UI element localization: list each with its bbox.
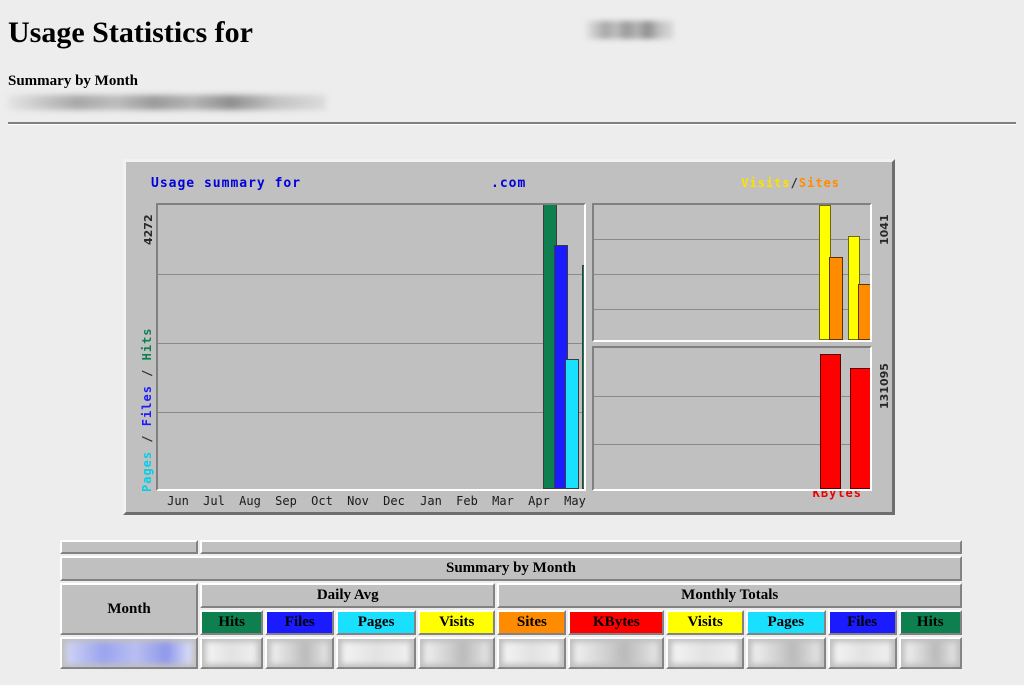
left-axis-max-value: 4272 [142, 214, 155, 245]
table-row[interactable] [60, 637, 962, 669]
table-spacer-row [60, 540, 962, 554]
plot-pages-files-hits [156, 203, 586, 491]
redacted-value [905, 642, 956, 664]
page-title: Usage Statistics for [8, 14, 253, 52]
column-header-total-kbytes[interactable]: KBytes [568, 610, 664, 635]
axis-label-sep-2: / [140, 360, 154, 385]
bar-sites-may [858, 284, 872, 340]
summary-by-month-table: Summary by Month Month Daily Avg Monthly… [58, 538, 964, 671]
chart-legend-visits-sites: Visits/Sites [741, 176, 840, 190]
column-header-total-visits[interactable]: Visits [666, 610, 743, 635]
column-header-total-pages[interactable]: Pages [746, 610, 826, 635]
gridline [158, 412, 584, 413]
cell-daily-hits-redacted [200, 637, 263, 669]
column-header-month: Month [60, 583, 198, 635]
month-tick-jan: Jan [420, 494, 442, 508]
summary-by-month-table-container: Summary by Month Month Daily Avg Monthly… [58, 538, 964, 671]
column-header-total-hits[interactable]: Hits [899, 610, 962, 635]
legend-separator: / [791, 176, 799, 190]
cell-daily-files-redacted [265, 637, 334, 669]
cell-daily-visits-redacted [418, 637, 495, 669]
cell-total-pages-redacted [746, 637, 826, 669]
redacted-value [342, 642, 410, 664]
group-header-monthly-totals: Monthly Totals [497, 583, 962, 608]
bar-kbytes-may [850, 368, 871, 489]
month-tick-jun: Jun [167, 494, 189, 508]
group-header-daily-avg: Daily Avg [200, 583, 495, 608]
left-axis-title: Pages / Files / Hits [140, 327, 154, 492]
redacted-value [66, 642, 192, 664]
header-divider [8, 122, 1016, 125]
column-header-daily-visits[interactable]: Visits [418, 610, 495, 635]
month-tick-apr: Apr [528, 494, 550, 508]
legend-visits-label: Visits [741, 176, 790, 190]
month-tick-aug: Aug [239, 494, 261, 508]
table-title: Summary by Month [60, 556, 962, 581]
spacer-cell-left [60, 540, 198, 554]
cell-total-sites-redacted [497, 637, 566, 669]
bar-pages-apr [565, 359, 579, 489]
redacted-domain-name [586, 21, 674, 39]
usage-summary-chart: Usage summary for .com Visits/Sites 4272… [123, 159, 895, 515]
table-title-row: Summary by Month [60, 556, 962, 581]
bar-kbytes-apr [820, 354, 841, 489]
redacted-value [206, 642, 257, 664]
column-header-daily-files[interactable]: Files [265, 610, 334, 635]
spacer-cell-right [200, 540, 962, 554]
redacted-value [672, 642, 737, 664]
page-subtitle: Summary by Month [8, 52, 1024, 90]
column-header-daily-pages[interactable]: Pages [336, 610, 416, 635]
redacted-value [574, 642, 658, 664]
axis-label-pages: Pages [140, 451, 154, 492]
cell-total-files-redacted [828, 637, 897, 669]
right-bottom-axis-max-value: 131095 [878, 363, 891, 409]
cell-daily-pages-redacted [336, 637, 416, 669]
table-group-header-row: Month Daily Avg Monthly Totals [60, 583, 962, 608]
cell-total-hits-redacted [899, 637, 962, 669]
gridline [158, 343, 584, 344]
chart-domain-suffix: .com [491, 176, 526, 191]
redacted-value [271, 642, 328, 664]
redacted-value [752, 642, 820, 664]
axis-label-sep-1: / [140, 426, 154, 451]
month-tick-dec: Dec [383, 494, 405, 508]
month-tick-nov: Nov [347, 494, 369, 508]
gridline [158, 274, 584, 275]
redacted-subtitle-detail [8, 95, 326, 110]
cell-month-redacted [60, 637, 198, 669]
plot-kbytes [592, 346, 872, 491]
bar-sites-apr [829, 257, 843, 340]
month-tick-mar: Mar [492, 494, 514, 508]
column-header-total-sites[interactable]: Sites [497, 610, 566, 635]
month-tick-feb: Feb [456, 494, 478, 508]
column-header-total-files[interactable]: Files [828, 610, 897, 635]
page-header: Usage Statistics for Summary by Month [0, 0, 1024, 110]
month-tick-oct: Oct [311, 494, 333, 508]
right-top-axis-max-value: 1041 [878, 214, 891, 245]
redacted-value [834, 642, 891, 664]
cell-total-visits-redacted [666, 637, 743, 669]
redacted-value [503, 642, 560, 664]
chart-canvas: Usage summary for .com Visits/Sites 4272… [126, 162, 892, 512]
month-axis: Jun Jul Aug Sep Oct Nov Dec Jan Feb Mar … [156, 494, 586, 514]
month-tick-jul: Jul [203, 494, 225, 508]
month-tick-sep: Sep [275, 494, 297, 508]
redacted-value [424, 642, 489, 664]
legend-sites-label: Sites [799, 176, 840, 190]
axis-label-hits: Hits [140, 327, 154, 360]
column-header-daily-hits[interactable]: Hits [200, 610, 263, 635]
plot-visits-sites [592, 203, 872, 342]
cell-total-kbytes-redacted [568, 637, 664, 669]
axis-label-files: Files [140, 385, 154, 426]
month-tick-may: May [564, 494, 586, 508]
chart-title: Usage summary for [151, 176, 301, 191]
bar-hits-may [582, 265, 586, 489]
